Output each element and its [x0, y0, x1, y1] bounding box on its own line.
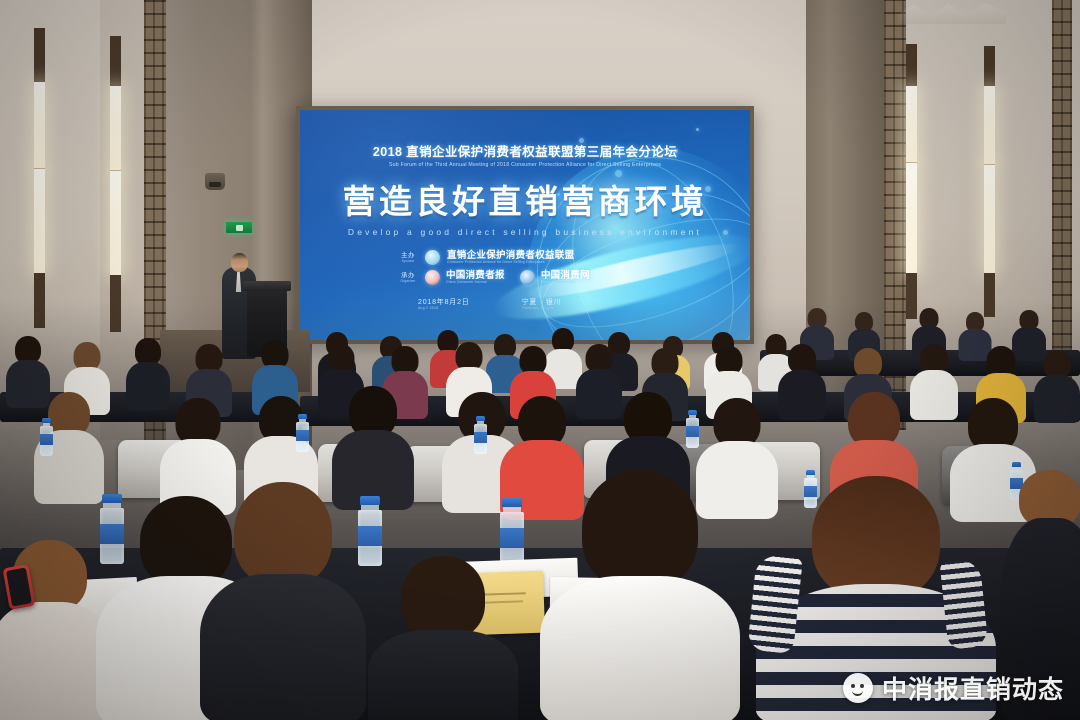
- wall-light-strip: [906, 44, 917, 320]
- wall-light-strip: [110, 36, 121, 332]
- attendee-foreground: [368, 556, 518, 720]
- organizer-name-union: 直销企业保护消费者权益联盟 Consumer Protection Allian…: [447, 251, 574, 264]
- wall-speaker-icon: [205, 173, 225, 190]
- organizer-name-en: China Consumer Net: [541, 281, 590, 284]
- screen-kicker-cn: 2018 直销企业保护消费者权益联盟第三届年会分论坛: [373, 141, 677, 160]
- wechat-icon: [843, 673, 873, 703]
- screen-title-en: Develop a good direct selling business e…: [348, 227, 702, 237]
- organizer-role-host: 承办 Organizer: [398, 272, 418, 283]
- host-logo-net: 中国消费网 China Consumer Net: [520, 270, 590, 285]
- water-bottle: [296, 414, 309, 452]
- screen-title-cn: 营造良好直销营商环境: [343, 175, 708, 223]
- organizer-name-en: China Consumer Journal: [446, 281, 505, 284]
- screen-kicker-en: Sub Forum of the Third Annual Meeting of…: [389, 162, 661, 168]
- organizer-role-cn: 主办: [398, 252, 418, 259]
- water-bottle: [686, 410, 699, 448]
- watermark-text: 中消报直销动态: [882, 670, 1064, 706]
- organizer-name-net: 中国消费网 China Consumer Net: [541, 271, 590, 284]
- organizer-block: 主办 Sponsor 直销企业保护消费者权益联盟 Consumer Protec…: [300, 250, 750, 290]
- china-consumer-journal-icon: [425, 270, 440, 285]
- organizer-name-journal: 中国消费者报 China Consumer Journal: [446, 271, 505, 284]
- water-bottle: [474, 416, 487, 454]
- wall-light-strip: [34, 28, 45, 328]
- organizer-row-sponsor: 主办 Sponsor 直销企业保护消费者权益联盟 Consumer Protec…: [398, 250, 750, 265]
- emergency-exit-sign: [226, 222, 252, 233]
- watermark: 中消报直销动态: [843, 670, 1064, 706]
- host-logo-paper: 中国消费者报 China Consumer Journal: [425, 270, 505, 285]
- union-globe-icon: [425, 250, 440, 265]
- attendee-foreground: [200, 482, 366, 720]
- wall-light-strip: [984, 46, 995, 318]
- presenter-head: [231, 253, 248, 272]
- organizer-role-sponsor: 主办 Sponsor: [398, 252, 418, 263]
- attendee-foreground: [540, 470, 740, 720]
- organizer-role-en: Sponsor: [398, 259, 418, 263]
- organizer-row-host: 承办 Organizer 中国消费者报 China Consumer Journ…: [398, 270, 750, 285]
- china-consumer-net-icon: [520, 270, 535, 285]
- attendee: [778, 344, 826, 416]
- attendee: [1034, 350, 1080, 420]
- organizer-name-en: Consumer Protection Alliance for Direct …: [447, 261, 574, 264]
- conference-photo: 2018 直销企业保护消费者权益联盟第三届年会分论坛 Sub Forum of …: [0, 0, 1080, 720]
- water-bottle: [40, 418, 53, 456]
- organizer-role-en: Organizer: [398, 279, 418, 283]
- organizer-role-cn: 承办: [398, 272, 418, 279]
